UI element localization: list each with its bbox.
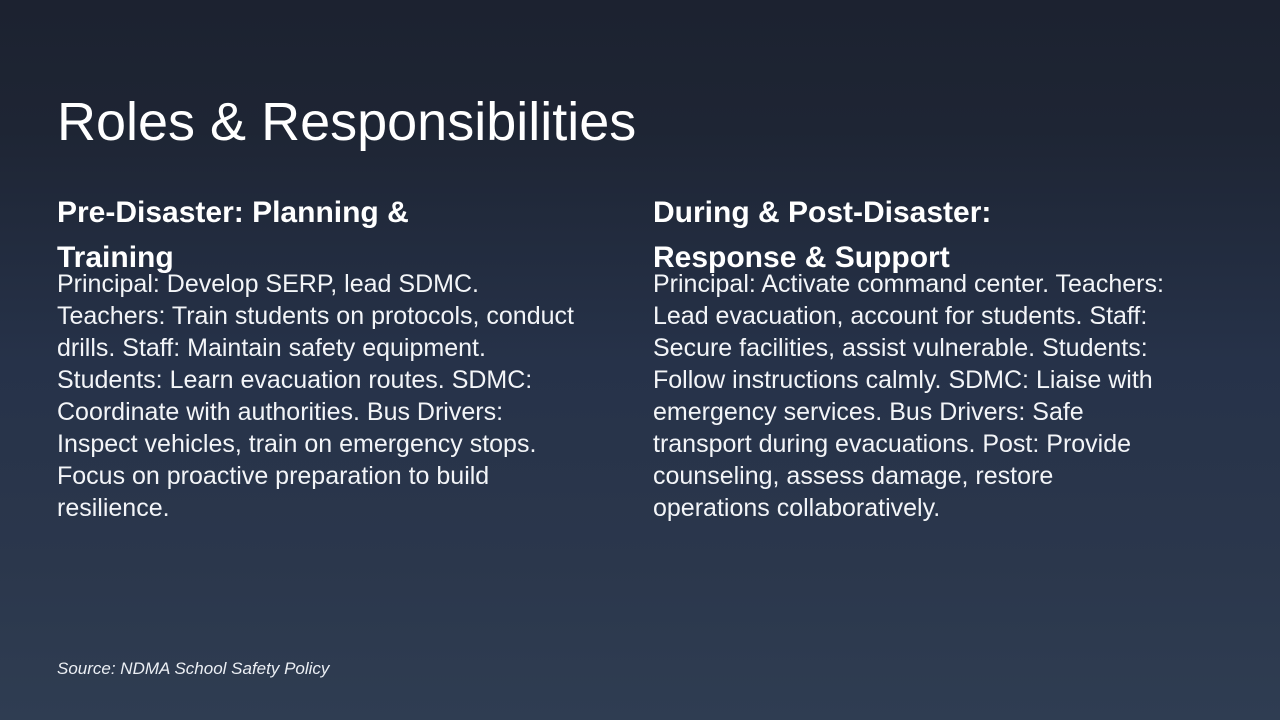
column-body-during-post-disaster: Principal: Activate command center. Teac… <box>653 268 1173 524</box>
column-body-pre-disaster: Principal: Develop SERP, lead SDMC. Teac… <box>57 268 577 524</box>
source-citation: Source: NDMA School Safety Policy <box>57 658 329 680</box>
column-heading-during-post-disaster: During & Post-Disaster: Response & Suppo… <box>653 190 1123 280</box>
column-heading-pre-disaster: Pre-Disaster: Planning & Training <box>57 190 517 280</box>
page-title: Roles & Responsibilities <box>57 91 1197 153</box>
presentation-slide: Roles & Responsibilities Pre-Disaster: P… <box>0 0 1280 720</box>
